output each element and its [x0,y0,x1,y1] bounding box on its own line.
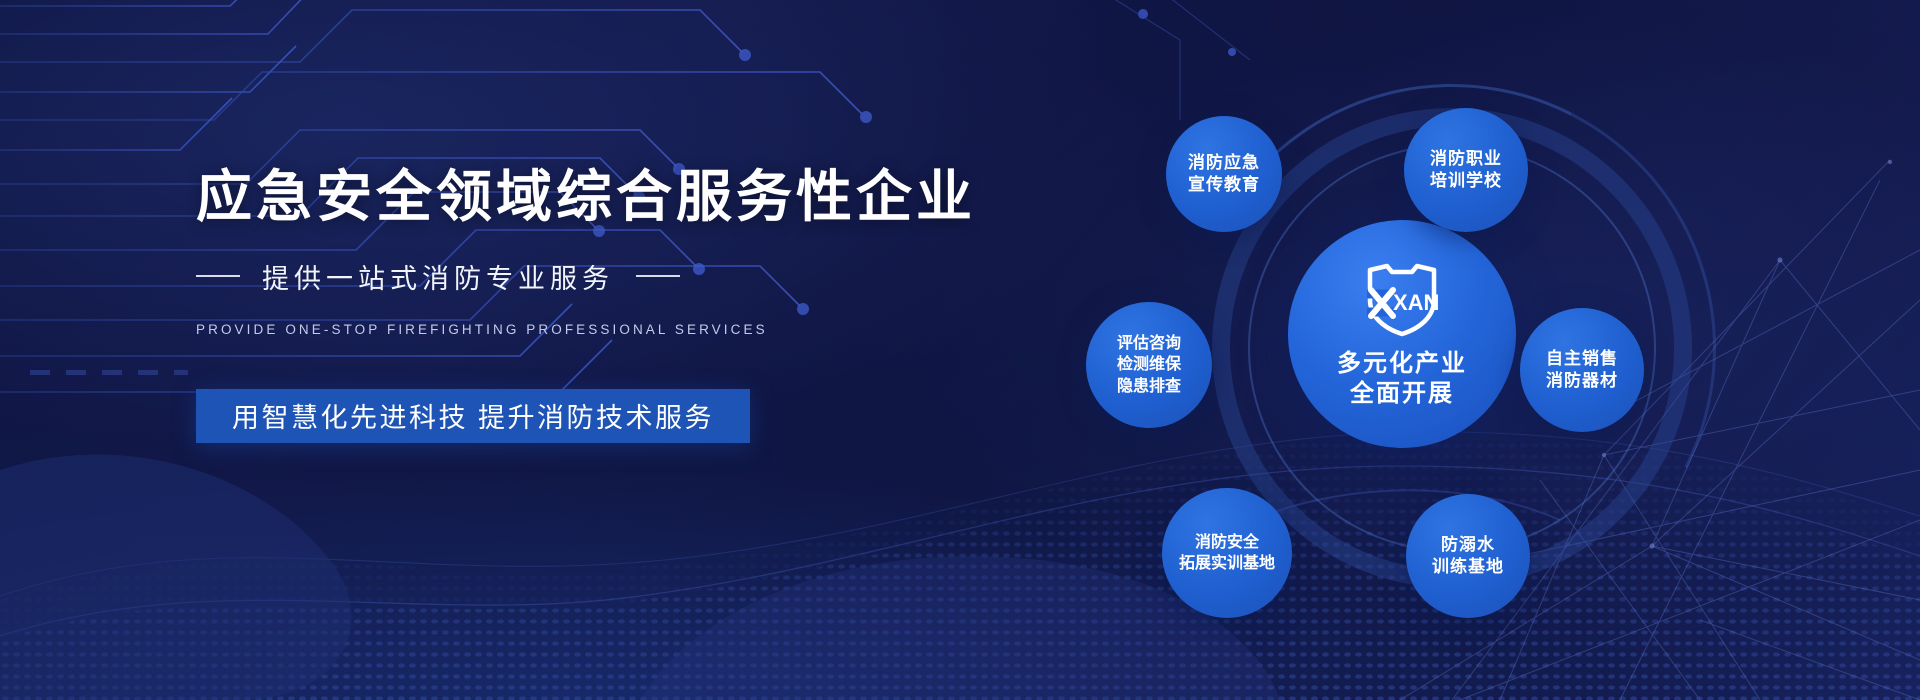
node-line-2: 宣传教育 [1188,174,1260,196]
node-line-2: 培训学校 [1430,170,1502,192]
center-line-2: 全面开展 [1337,379,1467,408]
node-assessment-inspection[interactable]: 评估咨询 检测维保 隐患排查 [1086,302,1212,428]
node-line-1: 自主销售 [1546,348,1618,370]
node-safety-training-base[interactable]: 消防安全 拓展实训基地 [1162,488,1292,618]
node-line-1: 消防应急 [1188,152,1260,174]
hero-banner: 应急安全领域综合服务性企业 提供一站式消防专业服务 PROVIDE ONE-ST… [0,0,1920,700]
svg-text:XAN: XAN [1393,290,1439,315]
node-equipment-sales[interactable]: 自主销售 消防器材 [1520,308,1644,432]
node-line-2: 训练基地 [1432,556,1504,578]
services-wheel-diagram: XAN 多元化产业 全面开展 消防应急 宣传教育 消防职业 培训学校 评估咨询 … [1140,70,1840,650]
node-line-1: 消防职业 [1430,148,1502,170]
page-title: 应急安全领域综合服务性企业 [196,168,916,227]
subheadline-row: 提供一站式消防专业服务 [196,257,916,296]
node-line-3: 隐患排查 [1117,376,1181,397]
node-line-2: 拓展实训基地 [1179,553,1275,574]
dash-right-icon [636,275,680,277]
hero-text-block: 应急安全领域综合服务性企业 提供一站式消防专业服务 PROVIDE ONE-ST… [196,168,916,443]
node-fire-vocational-school[interactable]: 消防职业 培训学校 [1404,108,1528,232]
node-line-1: 防溺水 [1441,534,1495,556]
shield-icon: XAN [1359,260,1445,345]
node-line-1: 评估咨询 [1117,333,1181,354]
node-line-1: 消防安全 [1195,532,1259,553]
center-node-label: 多元化产业 全面开展 [1337,349,1467,408]
node-line-2: 消防器材 [1546,370,1618,392]
node-line-2: 检测维保 [1117,354,1181,375]
english-tagline: PROVIDE ONE-STOP FIREFIGHTING PROFESSION… [196,322,916,337]
node-anti-drowning-base[interactable]: 防溺水 训练基地 [1406,494,1530,618]
node-fire-emergency-education[interactable]: 消防应急 宣传教育 [1166,116,1282,232]
cta-button[interactable]: 用智慧化先进科技 提升消防技术服务 [196,389,750,443]
center-line-1: 多元化产业 [1337,349,1467,378]
subheadline: 提供一站式消防专业服务 [262,257,614,296]
dash-left-icon [196,275,240,277]
diagram-center-node[interactable]: XAN 多元化产业 全面开展 [1288,220,1516,448]
